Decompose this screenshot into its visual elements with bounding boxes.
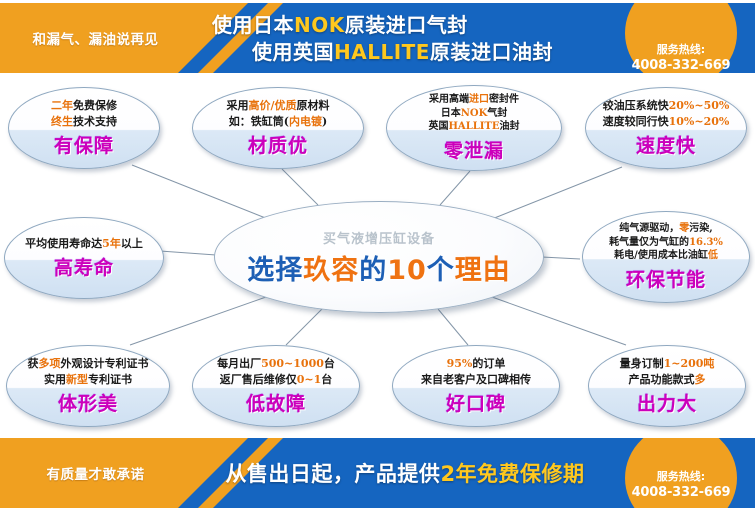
footer-left-slogan: 有质量才敢承诺 — [8, 438, 183, 508]
bubble-text-plain: 纯气源驱动， — [619, 223, 679, 234]
bubble-text-line: 获多项外观设计专利证书 — [7, 356, 169, 371]
bubble-text-line: 采用高价/优质原材料 — [193, 98, 363, 113]
bubble-text-line: 返厂售后维修仅0~1台 — [193, 372, 359, 387]
center-title-part-5: 个 — [427, 255, 455, 286]
reason-bubble-low-fault[interactable]: 每月出厂500~1000台返厂售后维修仅0~1台低故障 — [192, 345, 360, 427]
reason-bubble-zero-leak[interactable]: 采用高端进口密封件日本NOK气封英国HALLITE油封零泄漏 — [386, 85, 562, 171]
bubble-text-highlight: 1~200吨 — [664, 357, 715, 370]
bubble-text-line: 产品功能款式多 — [589, 372, 745, 387]
bubble-text-line: 耗气量仅为气缸的16.3% — [583, 236, 749, 250]
reason-bubble-reputation[interactable]: 95%的订单来自老客户及口碑相传好口碑 — [392, 345, 560, 427]
bubble-text-plain: 产品功能款式 — [629, 373, 695, 386]
header-hotline-label: 服务热线: — [657, 42, 705, 59]
bubble-text-plain: 采用高端 — [429, 94, 469, 105]
header-line2-post: 原装进口油封 — [430, 40, 553, 64]
header-hotline-badge[interactable]: 服务热线: 4008-332-669 — [625, 3, 737, 73]
bubble-text-highlight: 95% — [447, 357, 473, 370]
bubble-text-highlight: 进口 — [469, 94, 489, 105]
bubble-title: 材质优 — [248, 131, 308, 158]
bubble-text-highlight: NOK — [461, 108, 488, 119]
header-line1-post: 原装进口气封 — [345, 13, 468, 37]
bubble-text-plain: 平均使用寿命达 — [25, 237, 102, 250]
connector-to-bubble-7 — [130, 297, 266, 345]
reason-bubble-guarantee[interactable]: 二年免费保修终生技术支持有保障 — [8, 87, 160, 169]
bubble-text-plain: 量身订制 — [620, 357, 664, 370]
reason-bubble-lifespan[interactable]: 平均使用寿命达5年以上高寿命 — [4, 217, 164, 299]
bubble-text-plain: 来自老客户及口碑相传 — [421, 373, 531, 386]
bubble-text-highlight: 16.3% — [689, 237, 723, 248]
bubble-text-highlight: 500~1000 — [261, 357, 324, 370]
header-line2-pre: 使用英国 — [252, 40, 334, 64]
bubble-text-plain: 台 — [324, 357, 335, 370]
header-headline-line1: 使用日本NOK原装进口气封 — [190, 12, 620, 39]
bubble-text-line: 耗电/使用成本比油缸低 — [583, 249, 749, 263]
header-headline-line2: 使用英国HALLITE原装进口油封 — [190, 39, 620, 66]
bubble-text-highlight: HALLITE — [448, 121, 499, 132]
bubble-title: 体形美 — [58, 389, 118, 416]
connector-to-bubble-3 — [440, 171, 470, 205]
header-banner: 和漏气、漏油说再见 使用日本NOK原装进口气封 使用英国HALLITE原装进口油… — [0, 3, 755, 73]
bubble-text-plain: 实用 — [44, 373, 66, 386]
connector-to-bubble-5 — [160, 251, 216, 255]
footer-hotline-number: 4008-332-669 — [632, 485, 731, 500]
bubble-text-highlight: 20%~50% — [669, 99, 730, 112]
center-title-part-3: 的 — [359, 255, 387, 286]
bubble-text-line: 英国HALLITE油封 — [387, 120, 561, 134]
center-title-part-6: 理由 — [455, 255, 511, 286]
bubble-title: 零泄漏 — [444, 136, 504, 163]
footer-banner: 有质量才敢承诺 从售出日起，产品提供2年免费保修期 服务热线: 4008-332… — [0, 438, 755, 508]
center-title-part-2: 玖容 — [303, 255, 359, 286]
bubble-title: 环保节能 — [626, 265, 706, 292]
bubble-text-plain: 油封 — [500, 121, 520, 132]
bubble-text-line: 较油压系统快20%~50% — [586, 98, 746, 113]
bubble-text-plain: 外观设计专利证书 — [61, 357, 149, 370]
bubble-text-plain: 密封件 — [489, 94, 519, 105]
bubble-text-highlight: 零 — [679, 223, 689, 234]
bubble-text-highlight: 多项 — [39, 357, 61, 370]
bubble-text-plain: 以上 — [121, 237, 143, 250]
footer-headline: 从售出日起，产品提供2年免费保修期 — [190, 458, 620, 488]
bubble-text-plain: 获 — [28, 357, 39, 370]
bubble-text-highlight: 高价/优质 — [248, 99, 296, 112]
bubble-text-highlight: 多 — [695, 373, 706, 386]
header-left-slogan: 和漏气、漏油说再见 — [8, 3, 183, 73]
bubble-text-line: 实用新型专利证书 — [7, 372, 169, 387]
bubble-text-line: 量身订制1~200吨 — [589, 356, 745, 371]
bubble-title: 低故障 — [246, 389, 306, 416]
bubble-text-plain: 专利证书 — [88, 373, 132, 386]
bubble-text-plain: 速度较同行快 — [603, 115, 669, 128]
header-headline-group: 使用日本NOK原装进口气封 使用英国HALLITE原装进口油封 — [190, 3, 620, 73]
connector-to-bubble-8 — [286, 309, 322, 345]
bubble-text-highlight: 5年 — [102, 237, 121, 250]
header-line1-pre: 使用日本 — [212, 13, 294, 37]
header-hotline-number: 4008-332-669 — [632, 58, 731, 73]
bubble-text-plain: 免费保修 — [73, 99, 117, 112]
bubble-title: 好口碑 — [446, 389, 506, 416]
bubble-text-highlight: 0~1 — [297, 373, 322, 386]
connector-to-bubble-9 — [438, 309, 468, 345]
center-title-part-1: 选择 — [247, 255, 303, 286]
header-line1-brand: NOK — [294, 13, 345, 37]
reason-bubble-speed[interactable]: 较油压系统快20%~50%速度较同行快10%~20%速度快 — [585, 87, 747, 169]
bubble-text-plain: 返厂售后维修仅 — [220, 373, 297, 386]
bubble-text-line: 每月出厂500~1000台 — [193, 356, 359, 371]
bubble-text-plain: 台 — [321, 373, 332, 386]
bubble-text-plain: 采用 — [226, 99, 248, 112]
bubble-text-plain: ) — [322, 115, 327, 128]
reason-bubble-material[interactable]: 采用高价/优质原材料如：铁缸筒(内电镀)材质优 — [192, 87, 364, 169]
bubble-text-plain: 污染, — [689, 223, 712, 234]
footer-text-warranty: 2年免费保修期 — [440, 462, 584, 486]
bubble-text-plain: 如：铁缸筒( — [229, 115, 289, 128]
bubble-text-plain: 的订单 — [472, 357, 505, 370]
reason-bubble-design[interactable]: 获多项外观设计专利证书实用新型专利证书体形美 — [6, 345, 170, 427]
bubble-text-plain: 气封 — [487, 108, 507, 119]
bubble-text-plain: 技术支持 — [73, 115, 117, 128]
bubble-text-plain: 耗电/使用成本比油缸 — [614, 250, 708, 261]
bubble-title: 高寿命 — [54, 253, 114, 280]
bubble-text-highlight: 低 — [708, 250, 718, 261]
center-title: 选择玖容的10个理由 — [247, 248, 511, 287]
bubble-text-line: 日本NOK气封 — [387, 107, 561, 121]
footer-headline-group: 从售出日起，产品提供2年免费保修期 — [190, 438, 620, 508]
bubble-text-line: 速度较同行快10%~20% — [586, 114, 746, 129]
bubble-text-line: 终生技术支持 — [9, 114, 159, 129]
bubble-text-plain: 原材料 — [297, 99, 330, 112]
connector-to-bubble-1 — [132, 165, 268, 219]
bubble-title: 有保障 — [54, 131, 114, 158]
reason-bubble-eco[interactable]: 纯气源驱动，零污染,耗气量仅为气缸的16.3%耗电/使用成本比油缸低环保节能 — [582, 211, 750, 303]
bubble-text-line: 如：铁缸筒(内电镀) — [193, 114, 363, 129]
header-line2-brand: HALLITE — [334, 40, 430, 64]
bubble-text-plain: 每月出厂 — [217, 357, 261, 370]
footer-hotline-badge[interactable]: 服务热线: 4008-332-669 — [625, 438, 737, 508]
reason-bubble-output[interactable]: 量身订制1~200吨产品功能款式多出力大 — [588, 345, 746, 427]
bubble-text-plain: 英国 — [428, 121, 448, 132]
center-subtitle: 买气液增压缸设备 — [323, 228, 435, 247]
bubble-text-highlight: 内电镀 — [289, 115, 322, 128]
bubble-text-line: 二年免费保修 — [9, 98, 159, 113]
reasons-diagram: 二年免费保修终生技术支持有保障 采用高价/优质原材料如：铁缸筒(内电镀)材质优 … — [0, 73, 755, 438]
center-title-part-4: 10 — [387, 255, 427, 286]
connector-to-bubble-4 — [492, 167, 622, 219]
bubble-text-highlight: 新型 — [66, 373, 88, 386]
bubble-title: 出力大 — [637, 389, 697, 416]
center-oval: 买气液增压缸设备 选择玖容的10个理由 — [214, 201, 544, 313]
bubble-text-line: 纯气源驱动，零污染, — [583, 222, 749, 236]
bubble-text-line: 平均使用寿命达5年以上 — [5, 236, 163, 251]
connector-to-bubble-10 — [492, 297, 626, 345]
bubble-text-highlight: 二年 — [51, 99, 73, 112]
bubble-title: 速度快 — [636, 131, 696, 158]
connector-to-bubble-2 — [282, 169, 318, 205]
bubble-text-plain: 较油压系统快 — [603, 99, 669, 112]
footer-hotline-label: 服务热线: — [657, 469, 705, 486]
bubble-text-line: 95%的订单 — [393, 356, 559, 371]
bubble-text-plain: 耗气量仅为气缸的 — [609, 237, 689, 248]
bubble-text-plain: 日本 — [441, 108, 461, 119]
bubble-text-line: 来自老客户及口碑相传 — [393, 372, 559, 387]
connector-to-bubble-6 — [542, 257, 580, 259]
bubble-text-highlight: 终生 — [51, 115, 73, 128]
footer-text-pre: 从售出日起，产品提供 — [225, 462, 440, 486]
bubble-text-highlight: 10%~20% — [669, 115, 730, 128]
